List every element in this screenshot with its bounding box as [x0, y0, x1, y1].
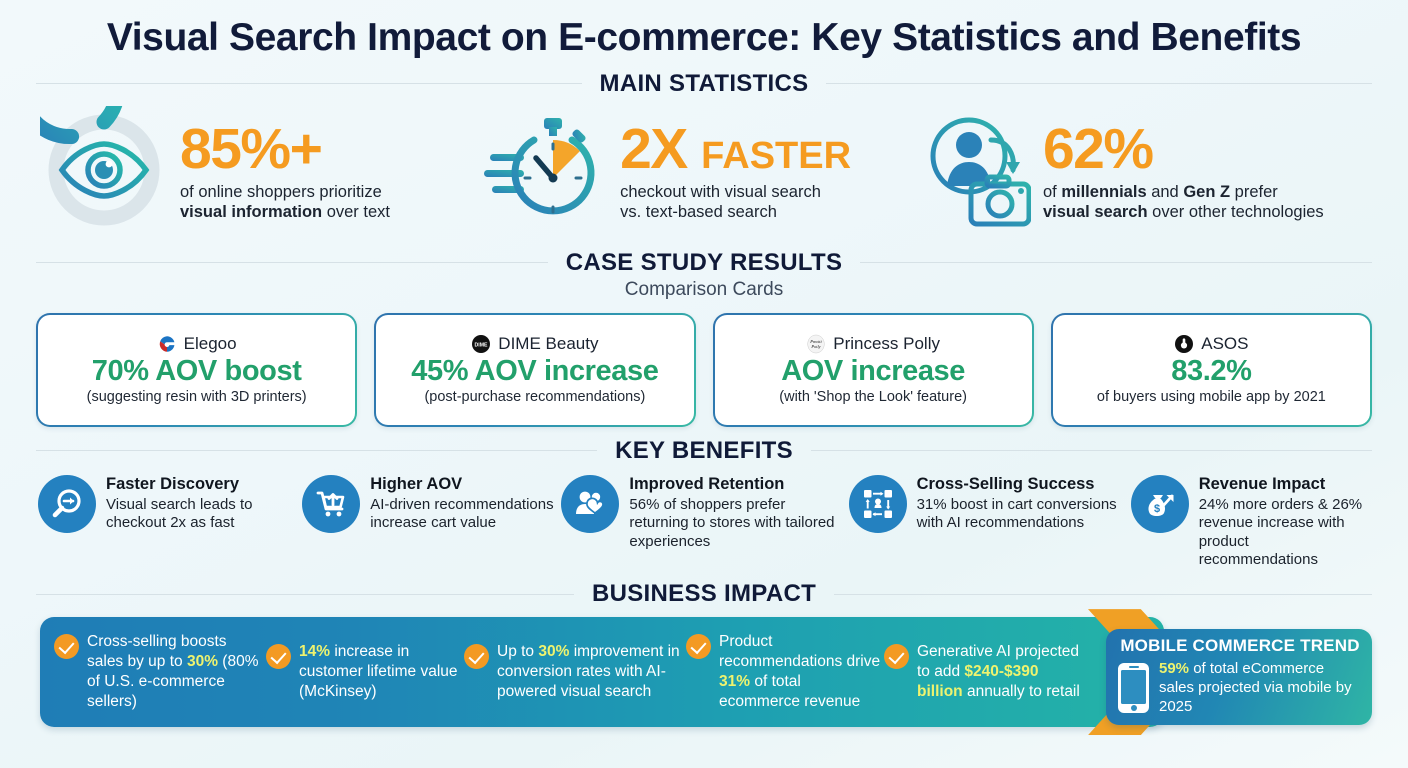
- card-brand-name: ASOS: [1201, 334, 1248, 354]
- princess-polly-logo-icon: Pnwtti Potly: [806, 334, 826, 354]
- benefit-cross-selling-success: Cross-Selling Success 31% boost in cart …: [849, 475, 1131, 533]
- card-brand-row: DIME DIME Beauty: [384, 334, 685, 354]
- stat-desc-tail: over text: [322, 203, 390, 221]
- card-note: (post-purchase recommendations): [384, 389, 685, 405]
- dime-beauty-logo-icon: DIME: [471, 334, 491, 354]
- impact-post: annually to retail: [963, 683, 1080, 700]
- case-study-card-elegoo[interactable]: Elegoo 70% AOV boost (suggesting resin w…: [36, 313, 357, 427]
- benefit-faster-discovery: Faster Discovery Visual search leads to …: [38, 475, 302, 533]
- divider-left: [36, 83, 582, 84]
- stat-card-visual-information: 85%+ of online shoppers prioritize visua…: [40, 106, 476, 239]
- impact-text: Cross-selling boosts sales by up to 30% …: [87, 632, 266, 713]
- benefit-description: 56% of shoppers prefer returning to stor…: [629, 496, 848, 552]
- benefit-improved-retention: Improved Retention 56% of shoppers prefe…: [561, 475, 848, 552]
- check-circle-icon: [884, 644, 909, 669]
- mobile-trend-row: 59% of total eCommerce sales projected v…: [1118, 659, 1362, 717]
- business-impact-band: Cross-selling boosts sales by up to 30% …: [40, 617, 1164, 727]
- stat-desc-bold-1: millennials: [1061, 183, 1146, 201]
- benefit-text-block: Higher AOV AI-driven recommendations inc…: [370, 475, 561, 533]
- benefit-title: Faster Discovery: [106, 475, 302, 495]
- impact-item-cross-selling: Cross-selling boosts sales by up to 30% …: [54, 632, 266, 713]
- section-header-main-statistics: MAIN STATISTICS: [36, 70, 1372, 98]
- mobile-commerce-trend-box: MOBILE COMMERCE TREND 59% of total eComm…: [1106, 629, 1372, 725]
- divider-right: [811, 450, 1372, 451]
- card-note: (suggesting resin with 3D printers): [46, 389, 347, 405]
- stat-description: of online shoppers prioritize visual inf…: [180, 182, 390, 223]
- stat-text-block: 62% of millennials and Gen Z prefer visu…: [1043, 122, 1324, 223]
- section-subtitle-comparison-cards: Comparison Cards: [36, 279, 1372, 301]
- stat-description: of millennials and Gen Z prefer visual s…: [1043, 182, 1324, 223]
- case-study-card-asos[interactable]: ASOS 83.2% of buyers using mobile app by…: [1051, 313, 1372, 427]
- impact-item-customer-lifetime-value: 14% increase in customer lifetime value …: [266, 642, 464, 702]
- case-study-card-dime-beauty[interactable]: DIME DIME Beauty 45% AOV increase (post-…: [374, 313, 695, 427]
- check-circle-icon: [54, 634, 79, 659]
- elegoo-logo-icon: [157, 334, 177, 354]
- svg-text:DIME: DIME: [475, 342, 489, 348]
- card-brand-name: DIME Beauty: [498, 334, 598, 354]
- stat-value-suffix: FASTER: [701, 135, 851, 177]
- search-arrow-icon: [38, 475, 96, 533]
- benefit-text-block: Cross-Selling Success 31% boost in cart …: [917, 475, 1131, 533]
- impact-text: Product recommendations drive 31% of tot…: [719, 632, 884, 713]
- impact-pre: Up to: [497, 643, 538, 660]
- impact-item-product-recommendations: Product recommendations drive 31% of tot…: [686, 632, 884, 713]
- section-header-key-benefits: KEY BENEFITS: [36, 437, 1372, 465]
- divider-right: [834, 594, 1372, 595]
- impact-text: 14% increase in customer lifetime value …: [299, 642, 464, 702]
- impact-item-conversion-rates: Up to 30% improvement in conversion rate…: [464, 642, 686, 702]
- business-impact-area: Cross-selling boosts sales by up to 30% …: [36, 617, 1372, 733]
- page-title: Visual Search Impact on E-commerce: Key …: [36, 0, 1372, 60]
- divider-left: [36, 594, 574, 595]
- divider-left: [36, 450, 597, 451]
- stat-value: 85%+: [180, 122, 390, 176]
- stopwatch-icon: [476, 110, 608, 235]
- benefit-title: Improved Retention: [629, 475, 848, 495]
- card-metric: 70% AOV boost: [46, 355, 347, 388]
- section-header-case-study: CASE STUDY RESULTS: [36, 249, 1372, 277]
- card-note: (with 'Shop the Look' feature): [723, 389, 1024, 405]
- stat-card-millennials-genz: 62% of millennials and Gen Z prefer visu…: [927, 112, 1368, 233]
- impact-highlight: 30%: [538, 643, 569, 660]
- benefit-title: Higher AOV: [370, 475, 561, 495]
- benefit-higher-aov: Higher AOV AI-driven recommendations inc…: [302, 475, 561, 533]
- check-circle-icon: [266, 644, 291, 669]
- card-brand-row: Pnwtti Potly Princess Polly: [723, 334, 1024, 354]
- benefit-title: Cross-Selling Success: [917, 475, 1131, 495]
- benefit-description: 31% boost in cart conversions with AI re…: [917, 496, 1131, 533]
- benefit-description: 24% more orders & 26% revenue increase w…: [1199, 496, 1370, 570]
- impact-item-generative-ai: Generative AI projected to add $240-$390…: [884, 642, 1084, 702]
- stat-desc-mid: and: [1147, 183, 1184, 201]
- section-title-main-statistics: MAIN STATISTICS: [600, 70, 809, 98]
- card-note: of buyers using mobile app by 2021: [1061, 389, 1362, 405]
- benefit-text-block: Revenue Impact 24% more orders & 26% rev…: [1199, 475, 1370, 570]
- card-metric: 83.2%: [1061, 355, 1362, 388]
- check-circle-icon: [464, 644, 489, 669]
- stat-value: 2X FASTER: [620, 122, 851, 176]
- person-camera-icon: [927, 112, 1031, 233]
- benefit-text-block: Improved Retention 56% of shoppers prefe…: [629, 475, 848, 552]
- svg-text:Potly: Potly: [811, 344, 821, 349]
- infographic-page: Visual Search Impact on E-commerce: Key …: [0, 0, 1408, 768]
- cart-up-icon: [302, 475, 360, 533]
- stat-text-block: 85%+ of online shoppers prioritize visua…: [180, 122, 390, 223]
- section-title-business-impact: BUSINESS IMPACT: [592, 580, 816, 608]
- smartphone-icon: [1118, 663, 1149, 713]
- stat-desc-line1: checkout with visual search: [620, 183, 821, 201]
- impact-highlight: 30%: [187, 653, 218, 670]
- case-study-card-princess-polly[interactable]: Pnwtti Potly Princess Polly AOV increase…: [713, 313, 1034, 427]
- asos-logo-icon: [1174, 334, 1194, 354]
- impact-highlight: 31%: [719, 673, 750, 690]
- stat-desc-bold: visual information: [180, 203, 322, 221]
- stat-desc-tail-1: prefer: [1230, 183, 1278, 201]
- card-brand-row: Elegoo: [46, 334, 347, 354]
- stat-value: 62%: [1043, 122, 1324, 176]
- check-circle-icon: [686, 634, 711, 659]
- stat-desc-line2: vs. text-based search: [620, 203, 777, 221]
- divider-right: [860, 262, 1372, 263]
- mobile-trend-text: 59% of total eCommerce sales projected v…: [1159, 659, 1362, 717]
- svg-text:$: $: [1154, 503, 1160, 515]
- eye-donut-icon: [40, 106, 168, 239]
- stat-desc-tail-2: over other technologies: [1148, 203, 1324, 221]
- card-brand-name: Elegoo: [184, 334, 237, 354]
- people-heart-icon: [561, 475, 619, 533]
- benefit-title: Revenue Impact: [1199, 475, 1370, 495]
- section-header-business-impact: BUSINESS IMPACT: [36, 580, 1372, 608]
- money-bag-arrow-icon: $: [1131, 475, 1189, 533]
- impact-text: Generative AI projected to add $240-$390…: [917, 642, 1084, 702]
- stat-description: checkout with visual search vs. text-bas…: [620, 182, 851, 223]
- card-brand-name: Princess Polly: [833, 334, 940, 354]
- benefit-text-block: Faster Discovery Visual search leads to …: [106, 475, 302, 533]
- benefit-description: Visual search leads to checkout 2x as fa…: [106, 496, 302, 533]
- mobile-trend-title: MOBILE COMMERCE TREND: [1118, 636, 1362, 656]
- stat-card-checkout-speed: 2X FASTER checkout with visual search vs…: [476, 110, 927, 235]
- mobile-trend-highlight: 59%: [1159, 660, 1189, 677]
- stat-desc-line1: of online shoppers prioritize: [180, 183, 382, 201]
- stat-desc-bold-3: visual search: [1043, 203, 1148, 221]
- stat-desc-bold-2: Gen Z: [1183, 183, 1230, 201]
- impact-highlight: 14%: [299, 643, 330, 660]
- stat-text-block: 2X FASTER checkout with visual search vs…: [620, 122, 851, 223]
- impact-text: Up to 30% improvement in conversion rate…: [497, 642, 686, 702]
- case-study-cards: Elegoo 70% AOV boost (suggesting resin w…: [36, 313, 1372, 427]
- cross-sell-grid-icon: [849, 475, 907, 533]
- card-brand-row: ASOS: [1061, 334, 1362, 354]
- stat-value-number: 2X: [620, 117, 687, 181]
- impact-pre: Product recommendations drive: [719, 633, 880, 670]
- section-title-case-study: CASE STUDY RESULTS: [566, 249, 843, 277]
- benefit-revenue-impact: $ Revenue Impact 24% more orders & 26% r…: [1131, 475, 1370, 570]
- divider-left: [36, 262, 548, 263]
- stat-desc-pre: of: [1043, 183, 1061, 201]
- section-title-key-benefits: KEY BENEFITS: [615, 437, 793, 465]
- main-statistics-row: 85%+ of online shoppers prioritize visua…: [36, 106, 1372, 239]
- card-metric: 45% AOV increase: [384, 355, 685, 388]
- divider-right: [826, 83, 1372, 84]
- card-metric: AOV increase: [723, 355, 1024, 388]
- key-benefits-row: Faster Discovery Visual search leads to …: [36, 475, 1372, 570]
- benefit-description: AI-driven recommendations increase cart …: [370, 496, 561, 533]
